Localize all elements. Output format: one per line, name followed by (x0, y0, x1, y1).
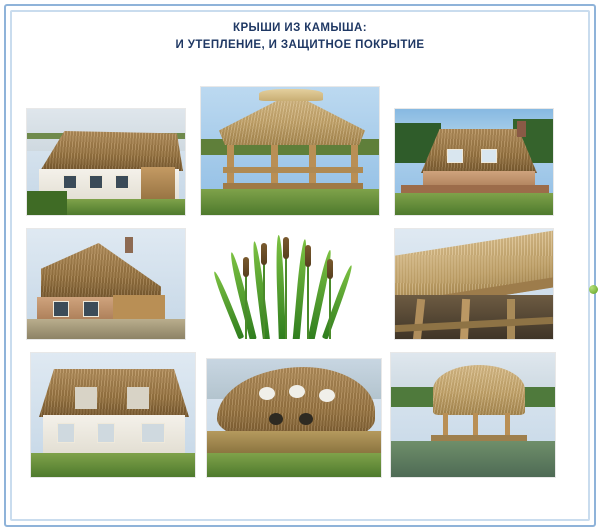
photo-5-head-3 (305, 245, 311, 267)
photo-7-dormer-1 (75, 387, 97, 409)
photo-4-window-1 (53, 301, 69, 317)
slide-accent-dot (589, 285, 598, 294)
slide-title: КРЫШИ ИЗ КАМЫША: И УТЕПЛЕНИЕ, И ЗАЩИТНОЕ… (0, 20, 600, 54)
gallery-photo-5 (204, 228, 376, 340)
photo-8-fence (207, 431, 381, 453)
photo-1-window-1 (63, 175, 77, 189)
photo-5-head-1 (261, 243, 267, 265)
photo-5-stem-1 (263, 259, 265, 340)
photo-5-head-2 (283, 237, 289, 259)
photo-2-ground (201, 189, 379, 215)
photo-9-post-3 (505, 413, 510, 437)
photo-4-window-2 (83, 301, 99, 317)
photo-8-ground (207, 453, 381, 477)
photo-1-window-2 (89, 175, 103, 189)
photo-1-window-3 (115, 175, 129, 189)
photo-9-dome (433, 365, 525, 415)
photo-7-dormer-2 (127, 387, 149, 409)
photo-2-post-3 (309, 145, 316, 185)
gallery-photo-1 (26, 108, 186, 216)
photo-7-window-1 (57, 423, 75, 443)
photo-2-post-4 (351, 145, 358, 185)
photo-7-roof (39, 369, 189, 417)
photo-5-stem-4 (245, 273, 247, 340)
photo-7-window-3 (141, 423, 165, 443)
photo-9-post-1 (443, 413, 448, 437)
photo-2-post-2 (271, 145, 278, 185)
photo-8-round-window-1 (259, 387, 275, 400)
photo-8-dark-window-2 (299, 413, 313, 425)
photo-8-round-window-3 (319, 389, 335, 402)
photo-8-round-window-2 (289, 385, 305, 398)
photo-5-head-5 (327, 259, 333, 279)
photo-3-dormer-2 (481, 149, 497, 163)
photo-9-water (391, 441, 555, 477)
gallery-photo-6 (394, 228, 554, 340)
gallery-photo-4 (26, 228, 186, 340)
photo-8-dark-window-1 (269, 413, 283, 425)
photo-5-head-4 (243, 257, 249, 277)
photo-4-ground (27, 319, 185, 339)
photo-5-stem-5 (329, 275, 331, 340)
photo-2-post-1 (227, 145, 234, 185)
photo-9-post-2 (473, 413, 478, 437)
gallery-photo-8 (206, 358, 382, 478)
gallery-photo-7 (30, 352, 196, 478)
photo-4-chimney (125, 237, 133, 253)
slide: КРЫШИ ИЗ КАМЫША: И УТЕПЛЕНИЕ, И ЗАЩИТНОЕ… (0, 0, 600, 531)
title-line-2: И УТЕПЛЕНИЕ, И ЗАЩИТНОЕ ПОКРЫТИЕ (0, 37, 600, 54)
photo-3-dormer-1 (447, 149, 463, 163)
photo-1-bush (27, 191, 67, 215)
gallery-photo-2 (200, 86, 380, 216)
photo-3-chimney (517, 121, 526, 137)
photo-3-ground (395, 193, 553, 215)
title-line-1: КРЫШИ ИЗ КАМЫША: (0, 20, 600, 37)
gallery-photo-3 (394, 108, 554, 216)
photo-2-ridge (259, 89, 323, 101)
photo-7-window-2 (97, 423, 115, 443)
photo-5-stem-3 (307, 261, 309, 340)
gallery-photo-9 (390, 352, 556, 478)
photo-5-stem-2 (285, 253, 287, 340)
photo-5-background (205, 229, 375, 339)
photo-7-ground (31, 453, 195, 477)
photo-2-rail (223, 167, 363, 173)
